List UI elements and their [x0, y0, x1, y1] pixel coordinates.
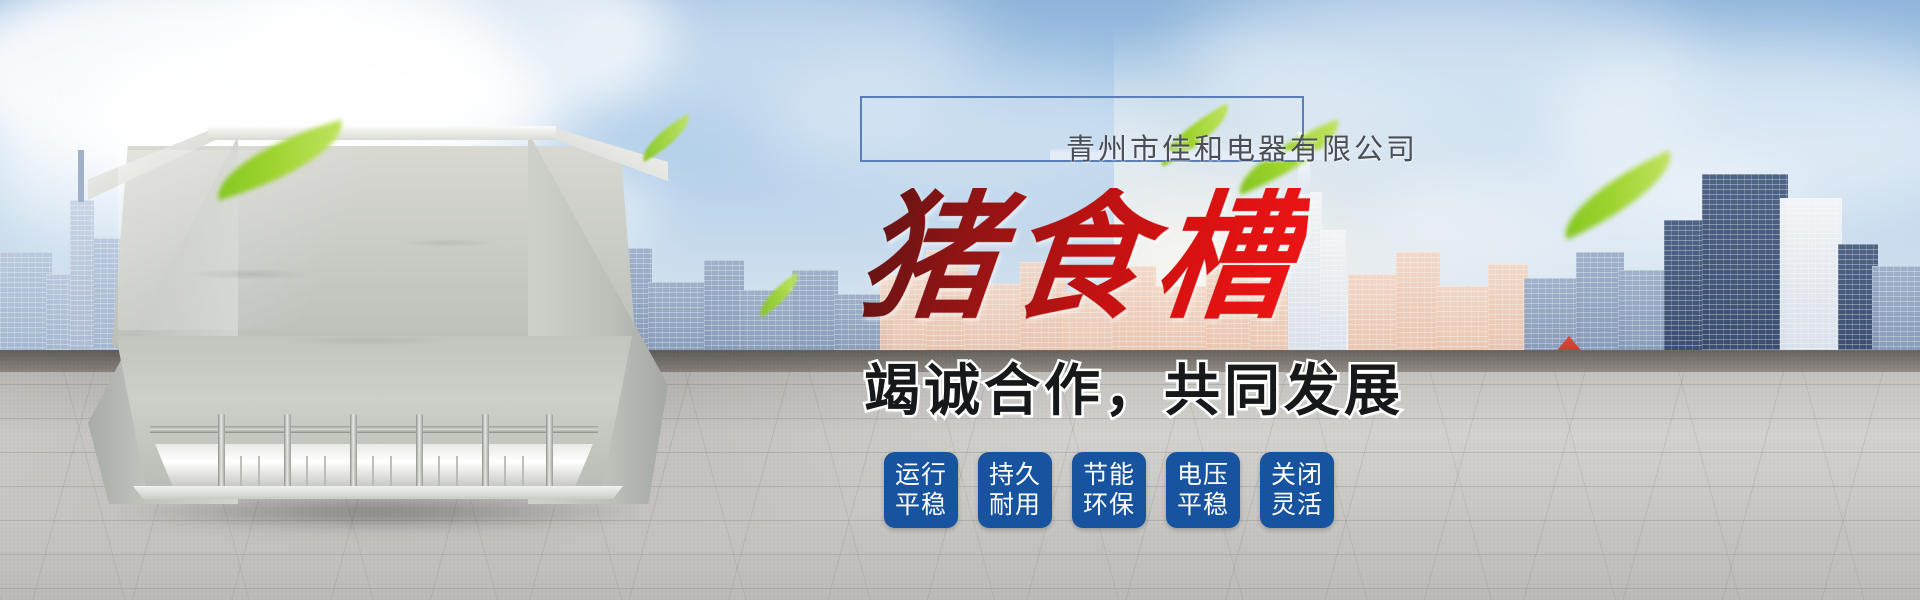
badge-line-2: 平稳	[1177, 490, 1229, 521]
feature-badge-2[interactable]: 持久 耐用	[978, 452, 1052, 528]
badge-line-2: 灵活	[1271, 490, 1323, 521]
product-image-feeding-trough	[88, 126, 668, 516]
company-name: 青州市佳和电器有限公司	[1056, 126, 1428, 168]
badge-line-2: 平稳	[895, 490, 947, 521]
badge-line-2: 耐用	[989, 490, 1041, 521]
tagline: 竭诚合作，共同发展	[864, 346, 1404, 427]
building	[1702, 174, 1788, 370]
page-title: 猪食槽	[853, 188, 1312, 326]
feature-badge-4[interactable]: 电压 平稳	[1166, 452, 1240, 528]
feature-badge-5[interactable]: 关闭 灵活	[1260, 452, 1334, 528]
spire	[78, 150, 84, 202]
banner-copy: 青州市佳和电器有限公司 猪食槽 竭诚合作，共同发展	[860, 96, 1520, 162]
badge-line-1: 运行	[895, 460, 947, 491]
feature-badge-3[interactable]: 节能 环保	[1072, 452, 1146, 528]
badge-line-1: 持久	[989, 460, 1041, 491]
trough-surface-marks	[88, 126, 668, 516]
feature-badges: 运行 平稳 持久 耐用 节能 环保 电压 平稳 关闭 灵活	[884, 452, 1334, 528]
building	[1780, 198, 1842, 370]
promo-banner: 青州市佳和电器有限公司 猪食槽 竭诚合作，共同发展 运行 平稳 持久 耐用 节能…	[0, 0, 1920, 600]
badge-line-1: 节能	[1083, 460, 1135, 491]
badge-line-1: 关闭	[1271, 460, 1323, 491]
trough-body	[88, 126, 668, 516]
feature-badge-1[interactable]: 运行 平稳	[884, 452, 958, 528]
badge-line-2: 环保	[1083, 490, 1135, 521]
badge-line-1: 电压	[1177, 460, 1229, 491]
